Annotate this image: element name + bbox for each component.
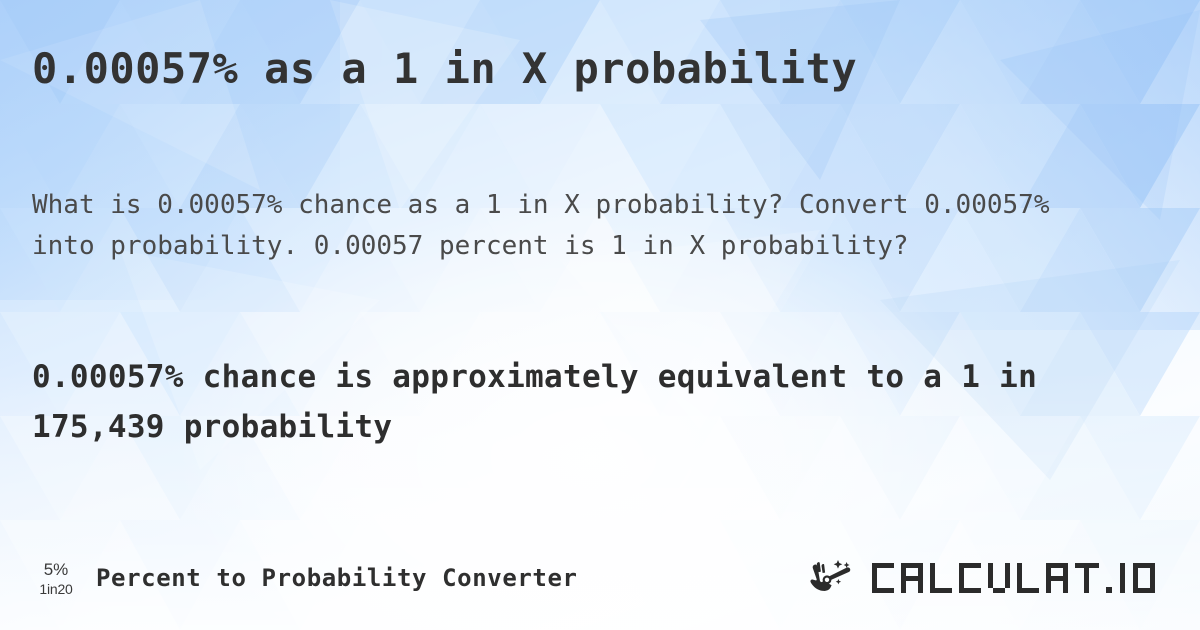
page-title: 0.00057% as a 1 in X probability [32, 44, 857, 94]
page-description: What is 0.00057% chance as a 1 in X prob… [32, 185, 1107, 267]
badge-bottom-label: 1in20 [39, 582, 72, 596]
percent-to-odds-badge-icon: 5% 1in20 [30, 561, 82, 596]
footer-bar: 5% 1in20 Percent to Probability Converte… [0, 550, 1200, 606]
badge-top-label: 5% [44, 561, 69, 578]
footer-left-group: 5% 1in20 Percent to Probability Converte… [30, 561, 578, 596]
content-area: 0.00057% as a 1 in X probability What is… [0, 0, 1200, 630]
hand-holding-magic-wand-icon [808, 558, 864, 598]
footer-tool-title: Percent to Probability Converter [96, 564, 578, 592]
answer-statement: 0.00057% chance is approximately equival… [32, 352, 1162, 452]
brand-logo[interactable]: CALCULAT.IO [808, 558, 1170, 598]
poster-canvas: 0.00057% as a 1 in X probability What is… [0, 0, 1200, 630]
brand-name-calculatio: CALCULAT.IO [870, 561, 1170, 595]
